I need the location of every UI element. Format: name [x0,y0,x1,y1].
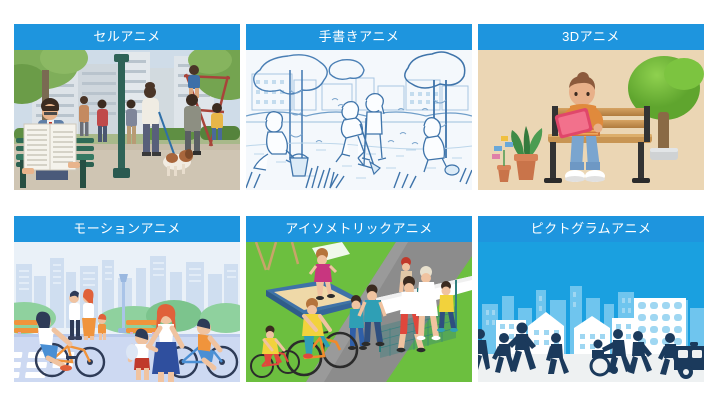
panel-title-motion-anime: モーションアニメ [14,216,240,242]
panel-title-3d-anime: 3Dアニメ [478,24,704,50]
panel-pictogram-anime[interactable]: ピクトグラムアニメ [478,216,704,382]
panel-title-hand-drawn-anime: 手書きアニメ [246,24,472,50]
panel-grid: セルアニメ [14,24,706,382]
panel-title-cel-anime: セルアニメ [14,24,240,50]
panel-hand-drawn-anime[interactable]: 手書きアニメ [246,24,472,190]
panel-art-hand-drawn-anime [246,50,472,190]
panel-art-3d-anime [478,50,704,190]
panel-isometric-anime[interactable]: アイソメトリックアニメ [246,216,472,382]
panel-cel-anime[interactable]: セルアニメ [14,24,240,190]
panel-3d-anime[interactable]: 3Dアニメ [478,24,704,190]
panel-art-pictogram-anime [478,242,704,382]
panel-motion-anime[interactable]: モーションアニメ [14,216,240,382]
panel-art-cel-anime [14,50,240,190]
panel-art-isometric-anime [246,242,472,382]
panel-art-motion-anime [14,242,240,382]
panel-title-isometric-anime: アイソメトリックアニメ [246,216,472,242]
panel-title-pictogram-anime: ピクトグラムアニメ [478,216,704,242]
